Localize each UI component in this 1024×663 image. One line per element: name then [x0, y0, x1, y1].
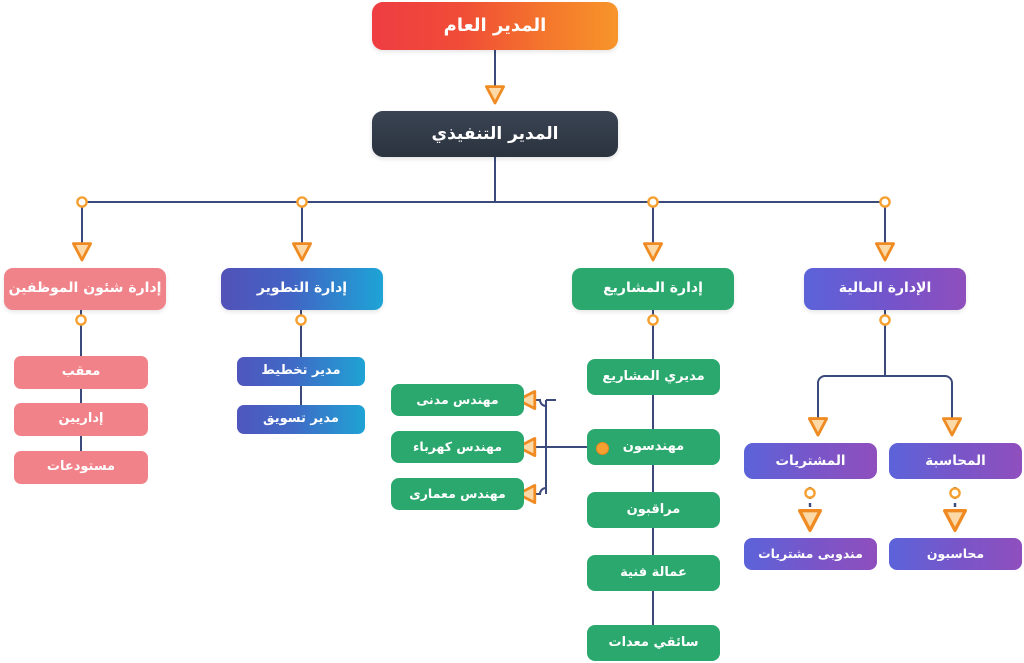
node-finance-accountants-label: محاسبون	[889, 547, 1022, 561]
node-projects-child-4-label: عمالة فنية	[587, 566, 720, 580]
node-engineer-architect-label: مهندس معمارى	[391, 487, 524, 501]
node-department-hr[interactable]: إدارة شئون الموظفين	[4, 268, 166, 310]
node-general-manager[interactable]: المدير العام	[372, 2, 618, 50]
node-hr-child-1[interactable]: معقب	[14, 356, 148, 389]
node-hr-child-3[interactable]: مستودعات	[14, 451, 148, 484]
node-finance-purchasing-reps-label: مندوبى مشتريات	[744, 547, 877, 561]
node-projects-child-3-label: مراقبون	[587, 503, 720, 517]
node-finance-accountants[interactable]: محاسبون	[889, 538, 1022, 570]
node-projects-child-5[interactable]: سائقي معدات	[587, 625, 720, 661]
node-hr-child-3-label: مستودعات	[14, 460, 148, 474]
node-projects-child-1[interactable]: مديري المشاريع	[587, 359, 720, 395]
node-development-child-1[interactable]: مدير تخطيط	[237, 357, 365, 386]
node-development-child-2-label: مدير تسويق	[237, 412, 365, 426]
node-finance-purchasing[interactable]: المشتريات	[744, 443, 877, 479]
node-hr-child-2[interactable]: إداريين	[14, 403, 148, 436]
node-department-projects-label: إدارة المشاريع	[572, 281, 734, 296]
node-projects-child-4[interactable]: عمالة فنية	[587, 555, 720, 591]
node-finance-accounting[interactable]: المحاسبة	[889, 443, 1022, 479]
node-executive-manager[interactable]: المدير التنفيذي	[372, 111, 618, 157]
node-hr-child-1-label: معقب	[14, 365, 148, 379]
node-department-hr-label: إدارة شئون الموظفين	[4, 281, 166, 296]
node-department-finance-label: الإدارة المالية	[804, 281, 966, 296]
node-engineer-electrical[interactable]: مهندس كهرباء	[391, 431, 524, 463]
node-development-child-1-label: مدير تخطيط	[237, 364, 365, 378]
node-finance-purchasing-label: المشتريات	[744, 454, 877, 469]
node-projects-child-engineers[interactable]: مهندسون	[587, 429, 720, 465]
node-projects-child-3[interactable]: مراقبون	[587, 492, 720, 528]
node-engineer-electrical-label: مهندس كهرباء	[391, 440, 524, 454]
node-department-finance[interactable]: الإدارة المالية	[804, 268, 966, 310]
node-department-projects[interactable]: إدارة المشاريع	[572, 268, 734, 310]
node-finance-accounting-label: المحاسبة	[889, 454, 1022, 469]
node-engineer-architect[interactable]: مهندس معمارى	[391, 478, 524, 510]
node-general-manager-label: المدير العام	[372, 16, 618, 36]
node-executive-manager-label: المدير التنفيذي	[372, 125, 618, 144]
node-engineer-civil[interactable]: مهندس مدنى	[391, 384, 524, 416]
node-engineer-civil-label: مهندس مدنى	[391, 393, 524, 407]
node-development-child-2[interactable]: مدير تسويق	[237, 405, 365, 434]
org-chart: المدير العام المدير التنفيذي إدارة شئون …	[0, 0, 1024, 663]
node-projects-child-5-label: سائقي معدات	[587, 636, 720, 650]
node-finance-purchasing-reps[interactable]: مندوبى مشتريات	[744, 538, 877, 570]
engineers-marker-dot	[596, 442, 609, 455]
node-hr-child-2-label: إداريين	[14, 412, 148, 426]
node-projects-child-1-label: مديري المشاريع	[587, 370, 720, 384]
node-department-development-label: إدارة التطوير	[221, 281, 383, 296]
node-department-development[interactable]: إدارة التطوير	[221, 268, 383, 310]
